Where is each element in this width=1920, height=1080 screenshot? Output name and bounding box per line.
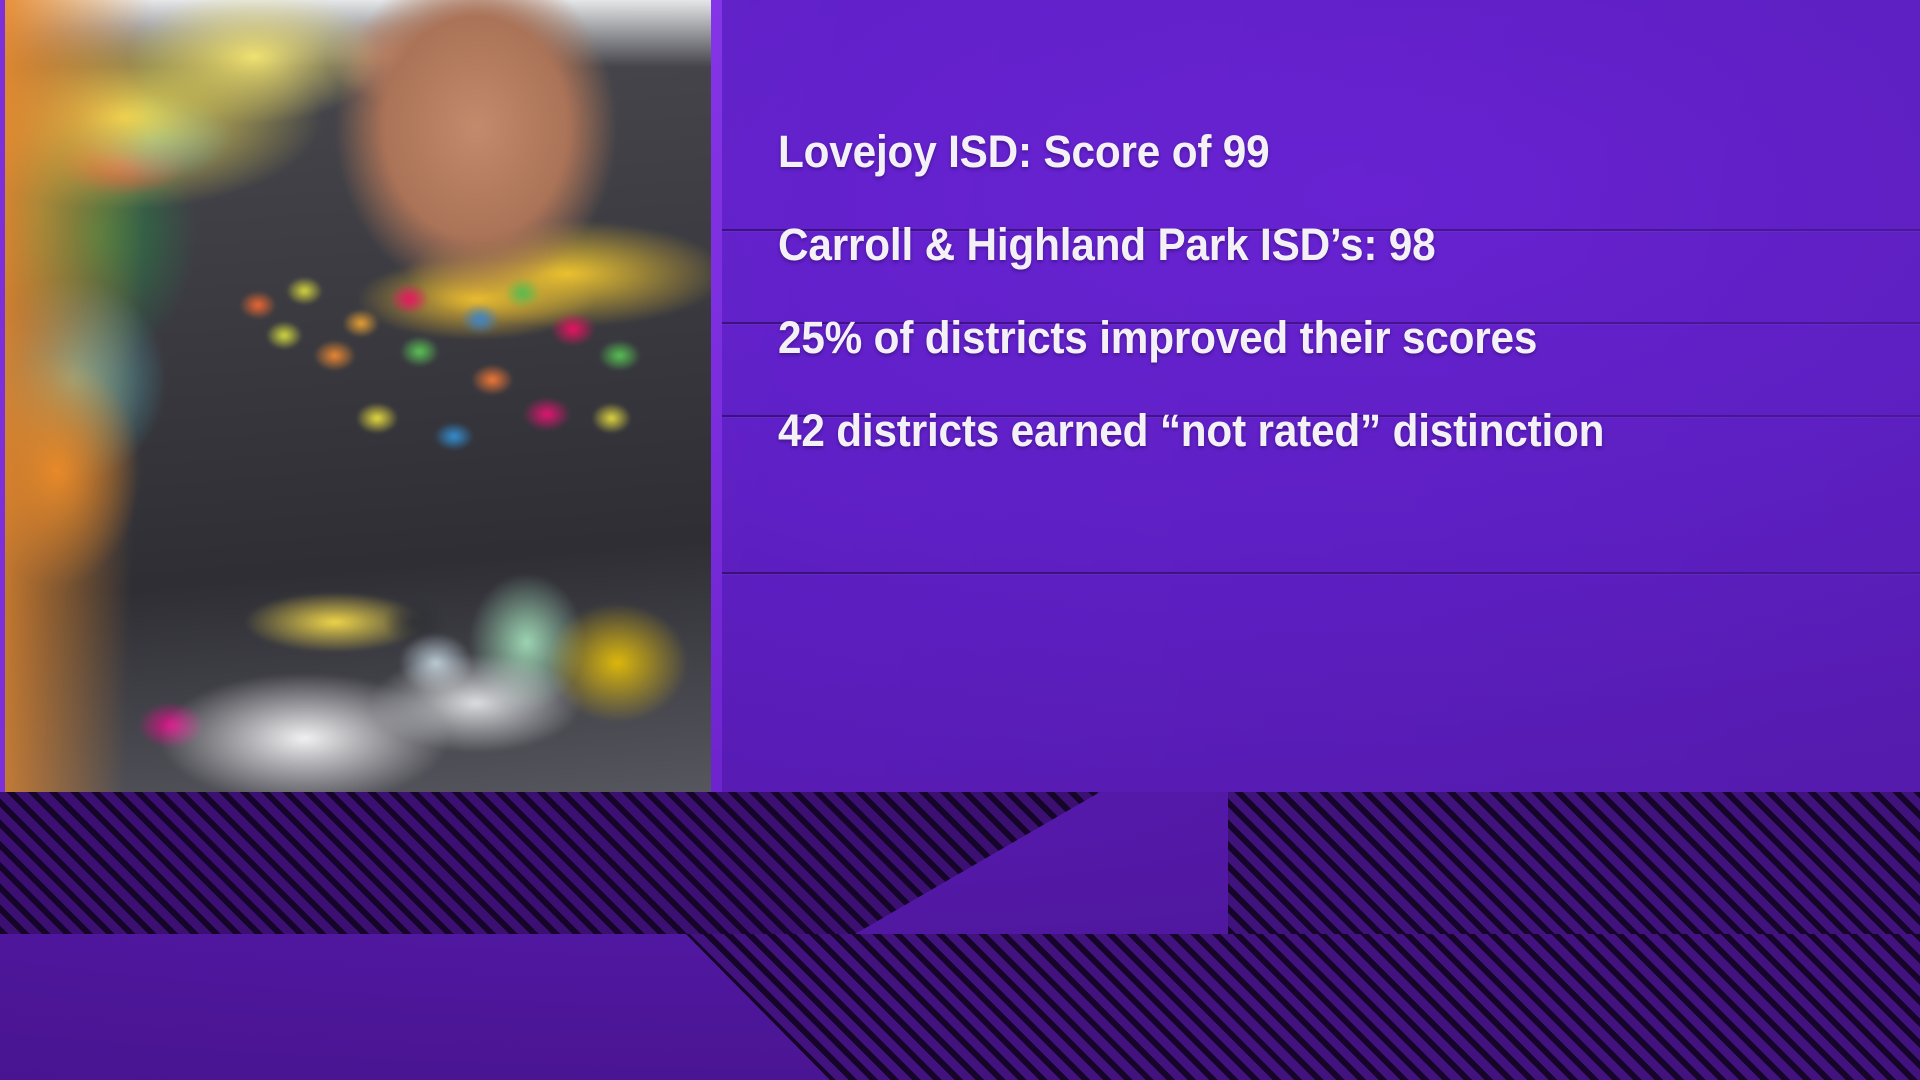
bottom-graphic-band bbox=[0, 792, 1920, 1080]
list-item: Carroll & Highland Park ISD’s: 98 bbox=[722, 203, 1920, 287]
list-item-label: Lovejoy ISD: Score of 99 bbox=[778, 128, 1269, 175]
stat-list: Lovejoy ISD: Score of 99 Carroll & Highl… bbox=[722, 0, 1920, 792]
list-item-label: 25% of districts improved their scores bbox=[778, 314, 1537, 361]
list-item: Lovejoy ISD: Score of 99 bbox=[722, 110, 1920, 194]
school-supplies-photo bbox=[1, 0, 716, 792]
list-item: 42 districts earned “not rated” distinct… bbox=[722, 389, 1920, 473]
list-divider bbox=[722, 572, 1920, 574]
stripe-block-right bbox=[1228, 792, 1920, 934]
list-item-label: 42 districts earned “not rated” distinct… bbox=[778, 407, 1604, 454]
photo-accent-edge bbox=[711, 0, 722, 792]
broadcast-graphic-stage: Lovejoy ISD: Score of 99 Carroll & Highl… bbox=[0, 0, 1920, 1080]
list-item: 25% of districts improved their scores bbox=[722, 296, 1920, 380]
list-item-label: Carroll & Highland Park ISD’s: 98 bbox=[778, 221, 1435, 268]
photo-panel bbox=[0, 0, 716, 792]
